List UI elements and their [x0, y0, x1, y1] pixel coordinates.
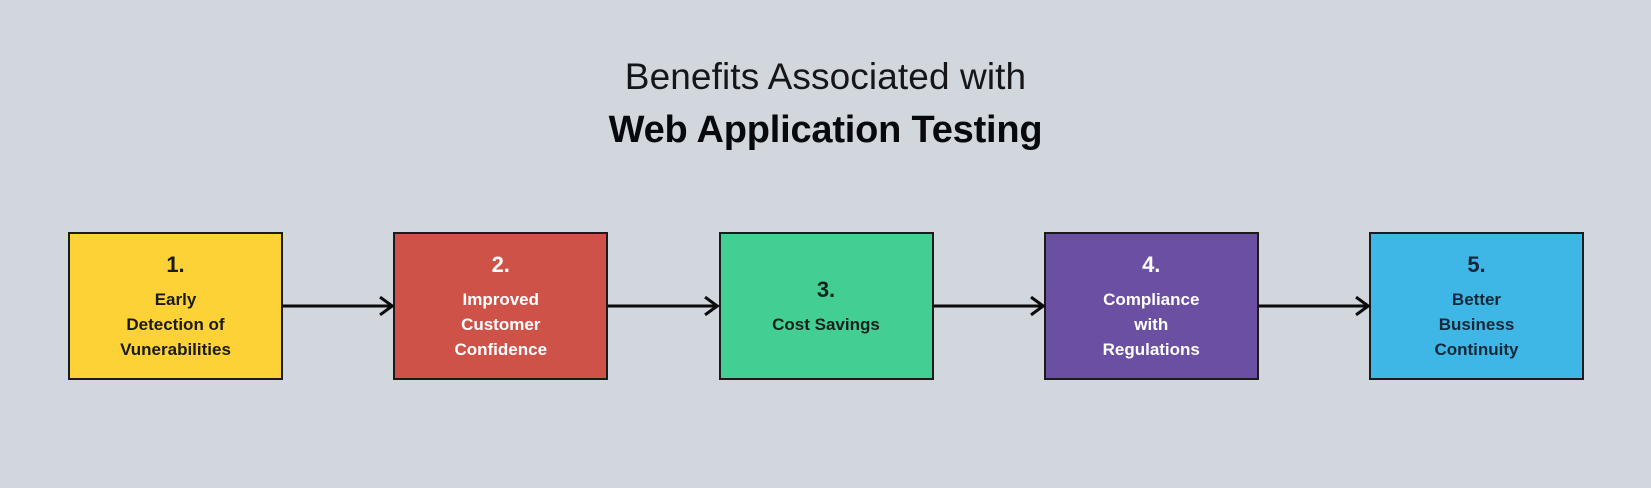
step-label-1: Early Detection of Vunerabilities	[120, 287, 231, 362]
step-label-5: Better Business Continuity	[1434, 287, 1518, 362]
arrow-head-icon	[934, 232, 1044, 380]
diagram-canvas: Benefits Associated with Web Application…	[0, 0, 1651, 488]
step-label-3: Cost Savings	[772, 312, 880, 337]
title-line-primary: Benefits Associated with	[0, 52, 1651, 102]
step-box-1[interactable]: 1. Early Detection of Vunerabilities	[68, 232, 283, 380]
step-box-4[interactable]: 4. Compliance with Regulations	[1044, 232, 1259, 380]
connector-4-to-5	[1259, 232, 1369, 380]
step-number-4: 4.	[1142, 251, 1160, 279]
step-box-3[interactable]: 3. Cost Savings	[719, 232, 934, 380]
arrow-head-icon	[283, 232, 393, 380]
step-number-5: 5.	[1467, 251, 1485, 279]
arrow-head-icon	[608, 232, 718, 380]
step-number-1: 1.	[166, 251, 184, 279]
connector-1-to-2	[283, 232, 393, 380]
arrow-head-icon	[1259, 232, 1369, 380]
step-box-5[interactable]: 5. Better Business Continuity	[1369, 232, 1584, 380]
flowchart-steps: 1. Early Detection of Vunerabilities 2. …	[68, 232, 1584, 380]
step-label-4: Compliance with Regulations	[1103, 287, 1200, 362]
step-number-3: 3.	[817, 276, 835, 304]
page-title: Benefits Associated with Web Application…	[0, 52, 1651, 156]
step-label-2: Improved Customer Confidence	[454, 287, 547, 362]
connector-2-to-3	[608, 232, 718, 380]
step-box-2[interactable]: 2. Improved Customer Confidence	[393, 232, 608, 380]
title-line-secondary: Web Application Testing	[0, 104, 1651, 156]
step-number-2: 2.	[492, 251, 510, 279]
connector-3-to-4	[934, 232, 1044, 380]
